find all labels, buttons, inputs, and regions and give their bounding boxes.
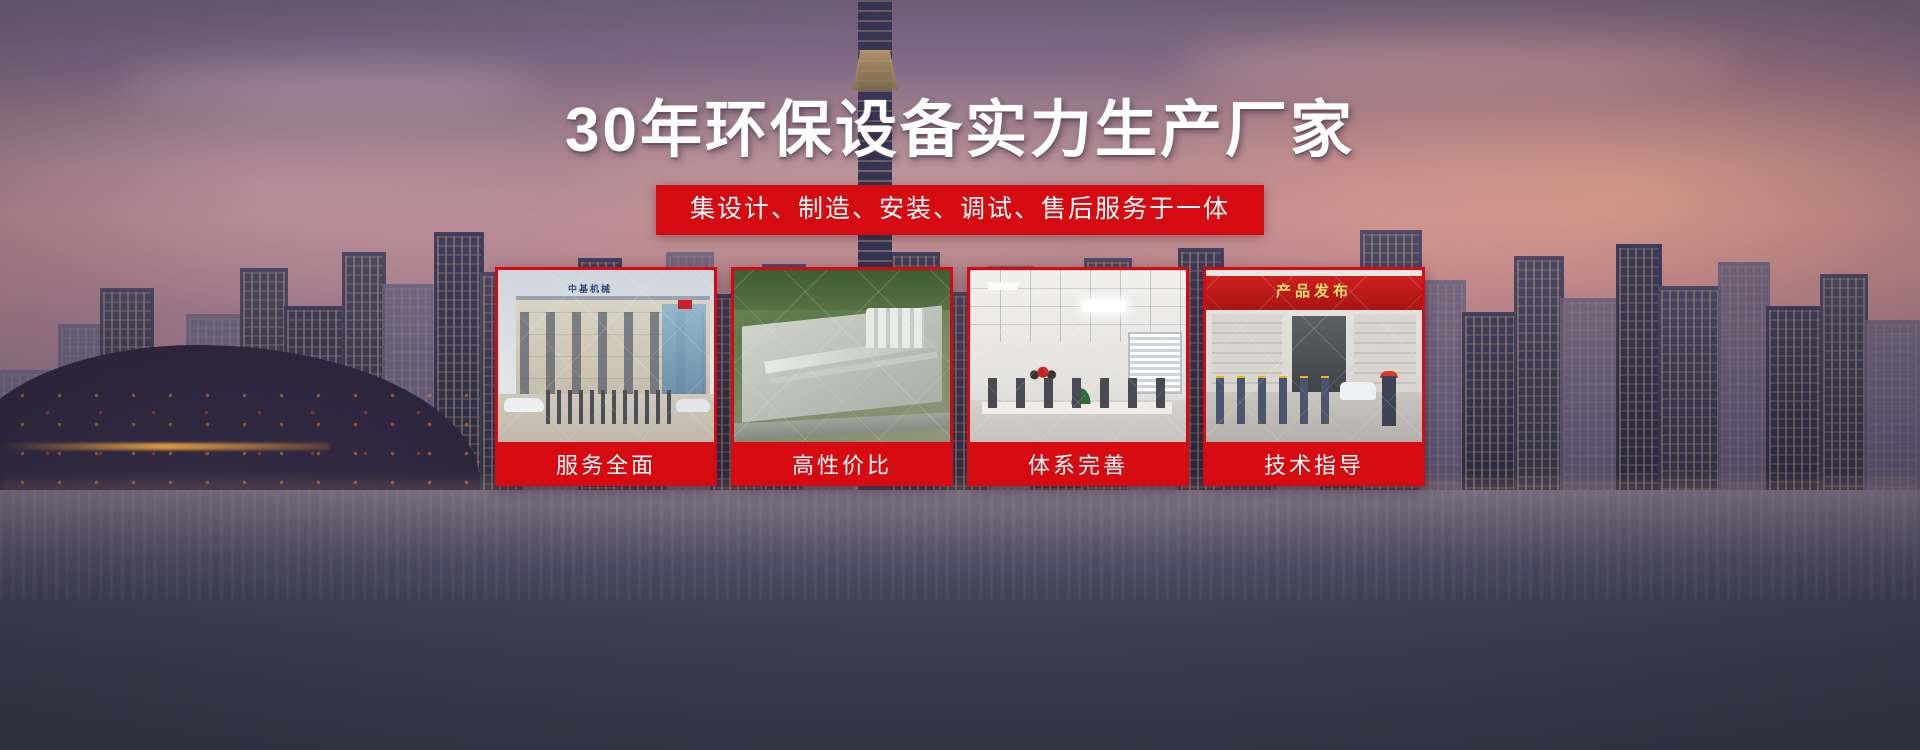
flag-icon xyxy=(678,300,692,309)
workshop-banner-text: 产品发布 xyxy=(1206,280,1422,301)
feature-card[interactable]: 体系完善 xyxy=(967,267,1189,486)
card-photo-aerial-plant xyxy=(734,270,950,442)
feature-card[interactable]: 中基机械 服务全面 xyxy=(495,267,717,486)
hero-banner: 30年环保设备实力生产厂家 集设计、制造、安装、调试、售后服务于一体 中基机械 xyxy=(0,0,1920,750)
card-label: 服务全面 xyxy=(498,442,714,486)
wall-decal-icon xyxy=(1026,354,1060,380)
feature-card[interactable]: 产品发布 技术指导 xyxy=(1203,267,1425,486)
hero-subbanner: 集设计、制造、安装、调试、售后服务于一体 xyxy=(656,185,1264,235)
hero-headline: 30年环保设备实力生产厂家 xyxy=(565,98,1355,163)
card-photo-workshop-team: 产品发布 xyxy=(1206,270,1422,442)
card-photo-open-office xyxy=(970,270,1186,442)
building-signage: 中基机械 xyxy=(568,282,612,295)
card-photo-office-building: 中基机械 xyxy=(498,270,714,442)
feature-card-list: 中基机械 服务全面 xyxy=(495,267,1425,486)
feature-card[interactable]: 高性价比 xyxy=(731,267,953,486)
card-label: 技术指导 xyxy=(1206,442,1422,486)
hero-content: 30年环保设备实力生产厂家 集设计、制造、安装、调试、售后服务于一体 中基机械 xyxy=(0,0,1920,750)
card-label: 高性价比 xyxy=(734,442,950,486)
card-label: 体系完善 xyxy=(970,442,1186,486)
